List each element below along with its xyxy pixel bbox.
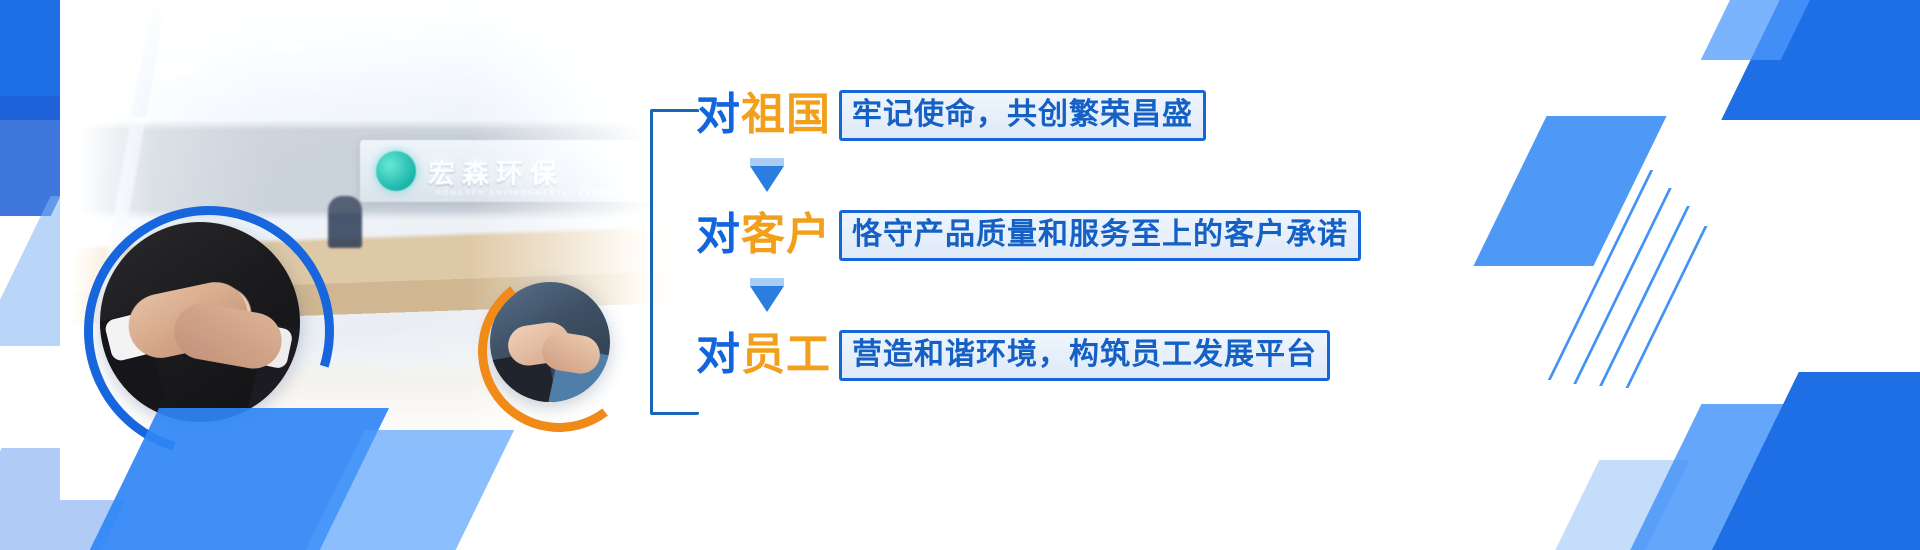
value-row-customer: 对 客户 恪守产品质量和服务至上的客户承诺 (650, 200, 1370, 270)
value-row-customer-prefix: 对 (696, 213, 741, 257)
values-rows: 对 祖国 牢记使命，共创繁荣昌盛 对 客户 恪守产品质量和服务至上的客户承诺 对… (650, 62, 1370, 390)
value-row-country-keyword: 祖国 (741, 93, 831, 137)
value-row-customer-keyword: 客户 (741, 213, 831, 257)
reception-staff-figure (328, 196, 362, 248)
company-values-banner: 宏森环保 HONGSEN ENVIRONMENTAL PROTECTION (0, 0, 1920, 550)
value-row-employee: 对 员工 营造和谐环境，构筑员工发展平台 (650, 320, 1370, 390)
value-row-employee-keyword: 员工 (741, 333, 831, 377)
value-row-country-prefix: 对 (696, 93, 741, 137)
values-content: 对 祖国 牢记使命，共创繁荣昌盛 对 客户 恪守产品质量和服务至上的客户承诺 对… (650, 62, 1370, 462)
company-sign-subtitle: HONGSEN ENVIRONMENTAL PROTECTION (436, 190, 645, 197)
value-row-employee-tag: 营造和谐环境，构筑员工发展平台 (839, 330, 1330, 381)
value-row-employee-prefix: 对 (696, 333, 741, 377)
value-row-country: 对 祖国 牢记使命，共创繁荣昌盛 (650, 80, 1370, 150)
value-row-customer-tag: 恪守产品质量和服务至上的客户承诺 (839, 210, 1361, 261)
company-sign-name: 宏森环保 (428, 152, 564, 191)
decor-shape-mid-right (1473, 116, 1666, 266)
value-row-country-tag: 牢记使命，共创繁荣昌盛 (839, 90, 1206, 141)
globe-leaf-logo-icon (376, 151, 416, 191)
decor-stripe-3 (1599, 206, 1690, 386)
company-sign: 宏森环保 HONGSEN ENVIRONMENTAL PROTECTION (360, 140, 676, 202)
